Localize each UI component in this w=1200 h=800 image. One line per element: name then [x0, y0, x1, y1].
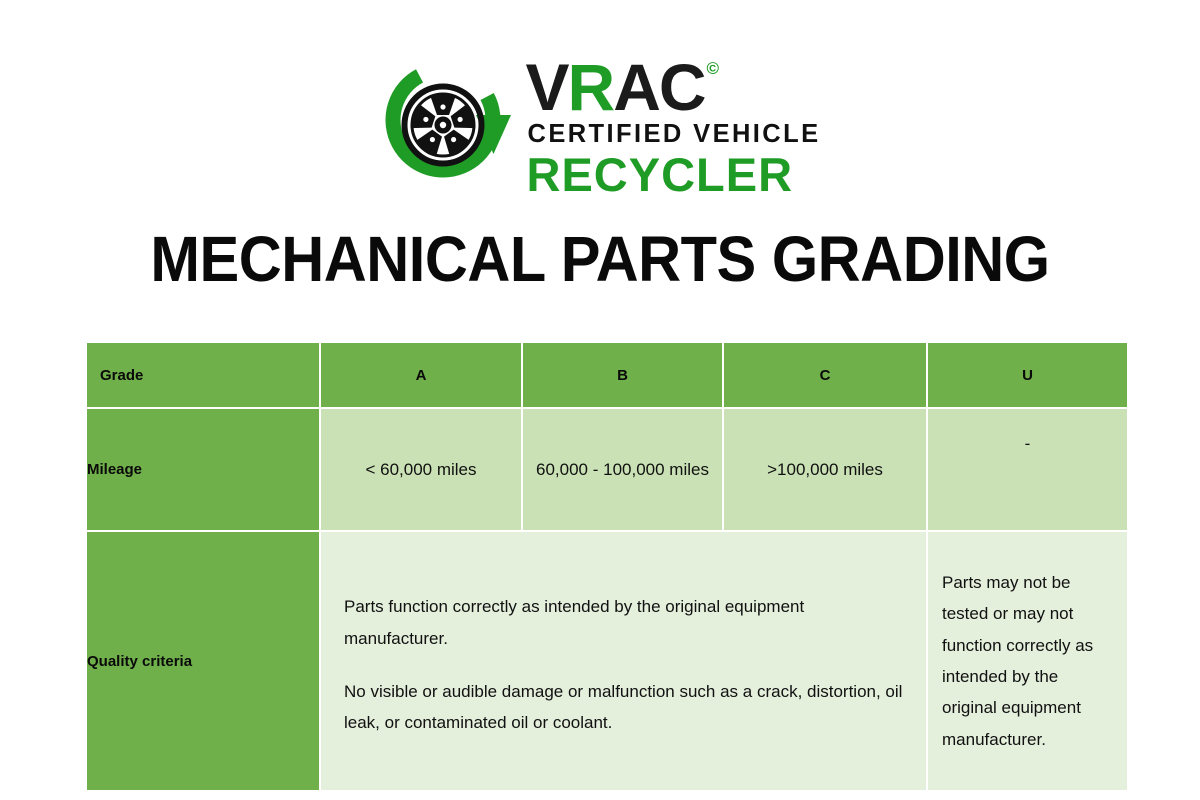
- row-label-quality-criteria: Quality criteria: [87, 532, 319, 790]
- table-row-quality-criteria: Quality criteria Parts function correctl…: [87, 532, 1127, 790]
- brand-recycler: RECYCLER: [527, 151, 794, 198]
- brand-letter-v: VRAC: [526, 56, 705, 119]
- copyright-icon: ©: [707, 60, 719, 77]
- header-cell-b: B: [523, 343, 722, 407]
- mileage-cell-c: >100,000 miles: [724, 409, 926, 530]
- logo-wordmark: VRAC © CERTIFIED VEHICLE RECYCLER: [526, 52, 821, 198]
- page-title: MECHANICAL PARTS GRADING: [42, 222, 1158, 296]
- quality-criteria-cell-abc: Parts function correctly as intended by …: [321, 532, 926, 790]
- wheel-rim: [404, 87, 481, 164]
- mileage-cell-b: 60,000 - 100,000 miles: [523, 409, 722, 530]
- vrac-wheel-arrow-logo: [380, 59, 512, 191]
- header-cell-grade: Grade: [87, 343, 319, 407]
- table-row-mileage: Mileage < 60,000 miles 60,000 - 100,000 …: [87, 409, 1127, 530]
- header-cell-a: A: [321, 343, 521, 407]
- quality-criteria-cell-u: Parts may not be tested or may not funct…: [928, 532, 1127, 790]
- quality-criteria-u-paragraph: Parts may not be tested or may not funct…: [942, 567, 1109, 756]
- brand-name-row: VRAC ©: [526, 56, 719, 119]
- quality-criteria-paragraph-2: No visible or audible damage or malfunct…: [344, 676, 904, 739]
- mileage-cell-a: < 60,000 miles: [321, 409, 521, 530]
- brand-logo: VRAC © CERTIFIED VEHICLE RECYCLER: [0, 52, 1200, 202]
- brand-tagline: CERTIFIED VEHICLE: [528, 122, 821, 148]
- mechanical-parts-grading-table: Grade A B C U Mileage < 60,000 miles 60,…: [85, 341, 1129, 792]
- row-label-mileage: Mileage: [87, 409, 319, 530]
- header-cell-c: C: [724, 343, 926, 407]
- table-header-row: Grade A B C U: [87, 343, 1127, 407]
- header-cell-u: U: [928, 343, 1127, 407]
- quality-criteria-paragraph-1: Parts function correctly as intended by …: [344, 591, 904, 654]
- mileage-cell-u: -: [928, 409, 1127, 530]
- logo-inner: VRAC © CERTIFIED VEHICLE RECYCLER: [380, 52, 821, 198]
